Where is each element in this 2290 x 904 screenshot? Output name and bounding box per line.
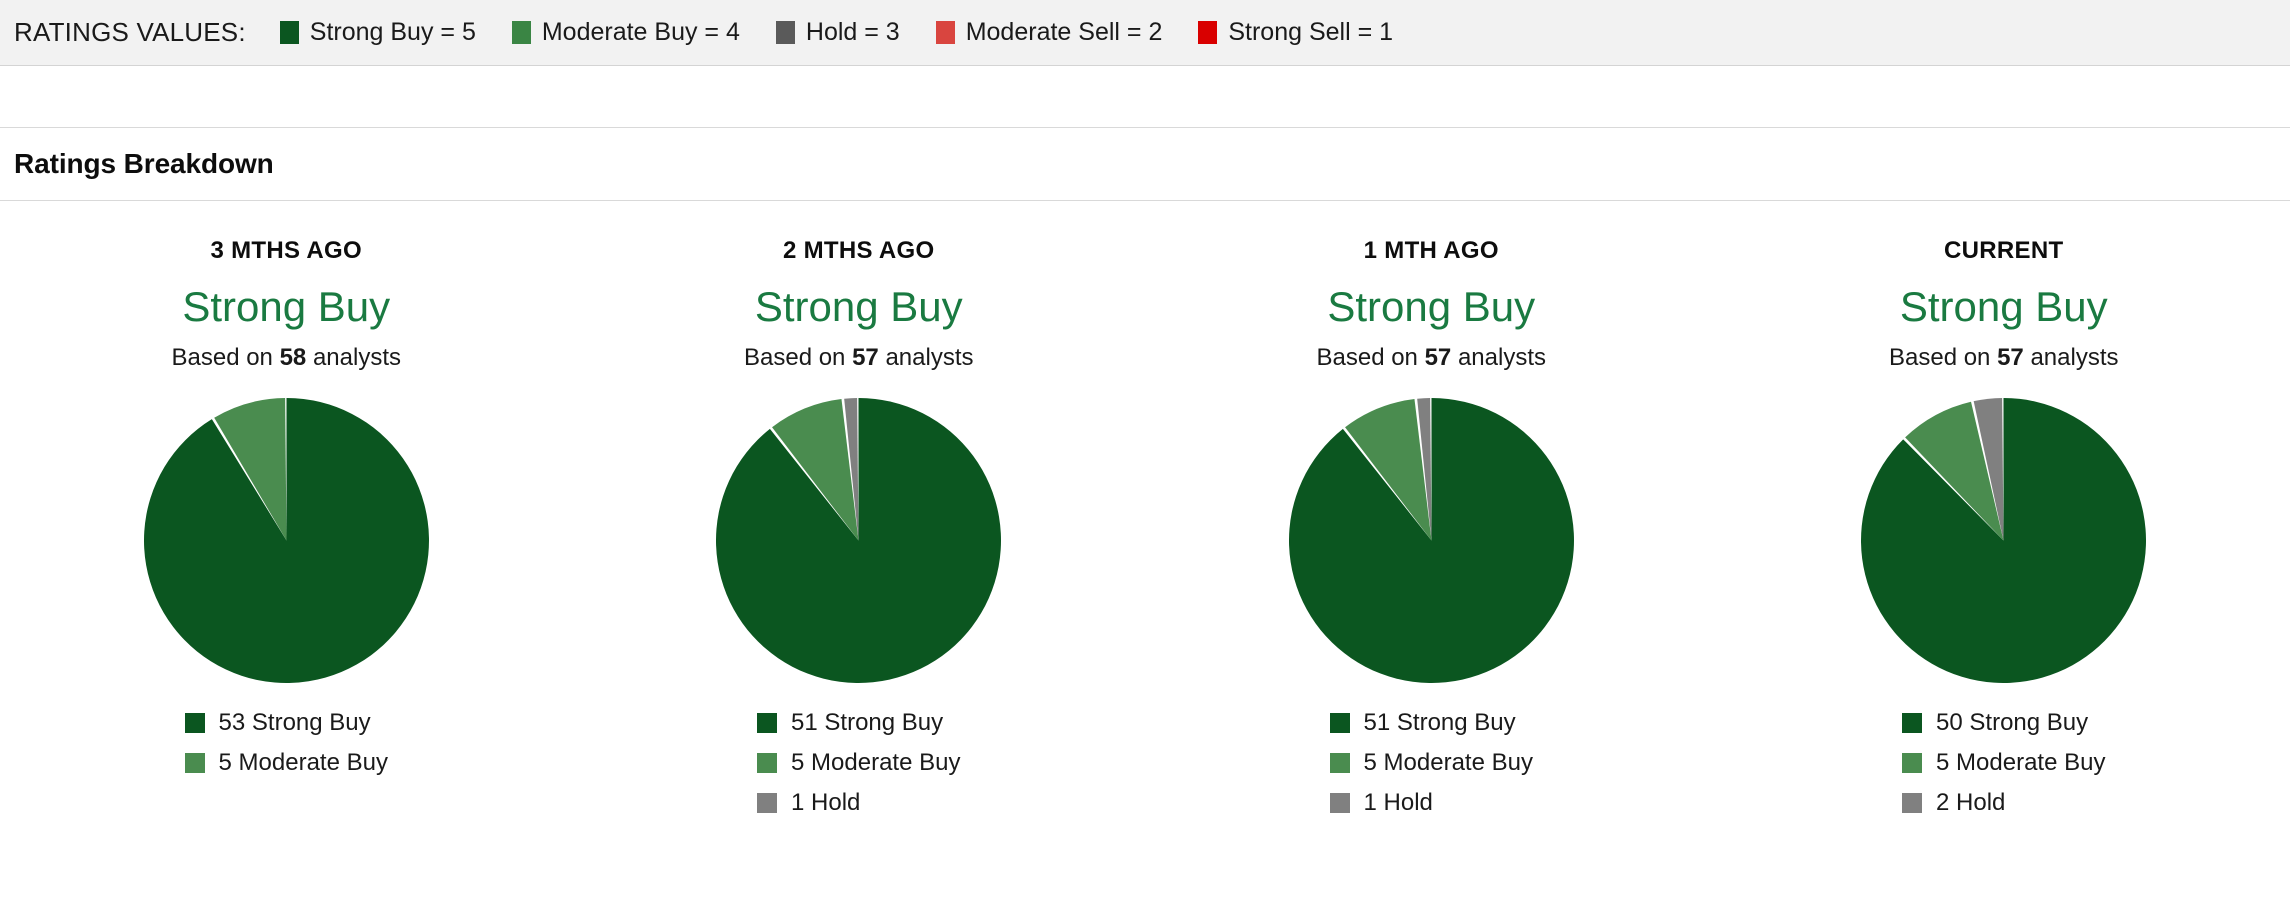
- analyst-count-text: Based on 57 analysts: [1889, 344, 2119, 372]
- column-period-label: 1 MTH AGO: [1364, 237, 1499, 265]
- pie-slice: [716, 398, 1001, 683]
- pie-legend-label: 2 Hold: [1936, 789, 2005, 817]
- analyst-count-prefix: Based on: [171, 344, 279, 371]
- pie-legend-label: 1 Hold: [791, 789, 860, 817]
- pie-legend-swatch-icon: [757, 793, 777, 813]
- analyst-count-text: Based on 57 analysts: [744, 344, 974, 372]
- pie-legend-swatch-icon: [1330, 713, 1350, 733]
- pie-chart: [1861, 398, 2146, 683]
- ratings-values-legend: Strong Buy = 5Moderate Buy = 4Hold = 3Mo…: [280, 18, 1429, 47]
- ratings-value-label: Moderate Buy = 4: [542, 18, 740, 47]
- pie-legend-label: 5 Moderate Buy: [1936, 749, 2105, 777]
- ratings-column: 3 MTHS AGOStrong BuyBased on 58 analysts…: [0, 211, 573, 829]
- pie-legend-item: 5 Moderate Buy: [1330, 749, 1533, 777]
- pie-slice: [1289, 398, 1574, 683]
- pie-legend-label: 5 Moderate Buy: [791, 749, 960, 777]
- ratings-value-label: Moderate Sell = 2: [966, 18, 1163, 47]
- page-title: Ratings Breakdown: [14, 148, 274, 180]
- spacer-band: [0, 66, 2290, 128]
- pie-legend-swatch-icon: [185, 713, 205, 733]
- ratings-value-item: Moderate Sell = 2: [936, 18, 1163, 47]
- pie-chart-container: [716, 398, 1001, 683]
- ratings-column: CURRENTStrong BuyBased on 57 analysts50 …: [1718, 211, 2290, 829]
- ratings-value-swatch-icon: [1198, 21, 1217, 44]
- pie-slice: [144, 398, 429, 683]
- pie-legend-swatch-icon: [1330, 793, 1350, 813]
- ratings-value-item: Strong Buy = 5: [280, 18, 476, 47]
- pie-legend: 51 Strong Buy5 Moderate Buy1 Hold: [1330, 709, 1533, 829]
- column-period-label: 2 MTHS AGO: [783, 237, 934, 265]
- ratings-value-label: Strong Buy = 5: [310, 18, 476, 47]
- column-period-label: CURRENT: [1944, 237, 2063, 265]
- ratings-value-label: Strong Sell = 1: [1228, 18, 1393, 47]
- pie-chart: [144, 398, 429, 683]
- ratings-value-swatch-icon: [512, 21, 531, 44]
- pie-legend-item: 5 Moderate Buy: [185, 749, 388, 777]
- ratings-value-swatch-icon: [280, 21, 299, 44]
- analyst-count-value: 57: [1425, 344, 1452, 371]
- pie-legend-item: 2 Hold: [1902, 789, 2005, 817]
- pie-legend-swatch-icon: [757, 713, 777, 733]
- pie-legend-label: 53 Strong Buy: [219, 709, 371, 737]
- ratings-value-item: Hold = 3: [776, 18, 900, 47]
- pie-slice: [1861, 398, 2146, 683]
- analyst-count-prefix: Based on: [744, 344, 852, 371]
- pie-chart-container: [1289, 398, 1574, 683]
- analyst-count-suffix: analysts: [879, 344, 974, 371]
- ratings-value-item: Moderate Buy = 4: [512, 18, 740, 47]
- pie-chart-container: [1861, 398, 2146, 683]
- consensus-rating-label: Strong Buy: [755, 285, 963, 329]
- pie-chart: [716, 398, 1001, 683]
- pie-legend-label: 51 Strong Buy: [791, 709, 943, 737]
- ratings-column: 2 MTHS AGOStrong BuyBased on 57 analysts…: [573, 211, 1146, 829]
- pie-legend: 51 Strong Buy5 Moderate Buy1 Hold: [757, 709, 960, 829]
- analyst-count-suffix: analysts: [1451, 344, 1546, 371]
- column-period-label: 3 MTHS AGO: [211, 237, 362, 265]
- analyst-count-value: 57: [852, 344, 879, 371]
- pie-legend-item: 53 Strong Buy: [185, 709, 371, 737]
- pie-legend-swatch-icon: [185, 753, 205, 773]
- analyst-count-prefix: Based on: [1889, 344, 1997, 371]
- pie-legend: 50 Strong Buy5 Moderate Buy2 Hold: [1902, 709, 2105, 829]
- pie-legend-item: 51 Strong Buy: [1330, 709, 1516, 737]
- pie-legend-swatch-icon: [1330, 753, 1350, 773]
- pie-legend-item: 1 Hold: [1330, 789, 1433, 817]
- pie-legend-swatch-icon: [1902, 753, 1922, 773]
- analyst-count-prefix: Based on: [1316, 344, 1424, 371]
- ratings-values-bar: RATINGS VALUES: Strong Buy = 5Moderate B…: [0, 0, 2290, 66]
- consensus-rating-label: Strong Buy: [182, 285, 390, 329]
- pie-legend-swatch-icon: [1902, 793, 1922, 813]
- pie-legend-swatch-icon: [757, 753, 777, 773]
- analyst-count-value: 57: [1997, 344, 2024, 371]
- analyst-count-text: Based on 57 analysts: [1316, 344, 1546, 372]
- pie-legend-label: 51 Strong Buy: [1364, 709, 1516, 737]
- consensus-rating-label: Strong Buy: [1327, 285, 1535, 329]
- pie-legend-label: 50 Strong Buy: [1936, 709, 2088, 737]
- pie-legend-item: 5 Moderate Buy: [757, 749, 960, 777]
- ratings-columns: 3 MTHS AGOStrong BuyBased on 58 analysts…: [0, 201, 2290, 829]
- pie-legend-item: 1 Hold: [757, 789, 860, 817]
- analyst-count-suffix: analysts: [306, 344, 401, 371]
- pie-legend-item: 51 Strong Buy: [757, 709, 943, 737]
- section-header: Ratings Breakdown: [0, 128, 2290, 201]
- ratings-value-label: Hold = 3: [806, 18, 900, 47]
- analyst-count-text: Based on 58 analysts: [171, 344, 401, 372]
- consensus-rating-label: Strong Buy: [1900, 285, 2108, 329]
- ratings-value-item: Strong Sell = 1: [1198, 18, 1393, 47]
- pie-legend-label: 1 Hold: [1364, 789, 1433, 817]
- ratings-values-title: RATINGS VALUES:: [14, 17, 246, 48]
- pie-chart: [1289, 398, 1574, 683]
- ratings-column: 1 MTH AGOStrong BuyBased on 57 analysts5…: [1145, 211, 1718, 829]
- analyst-count-suffix: analysts: [2024, 344, 2119, 371]
- ratings-value-swatch-icon: [936, 21, 955, 44]
- pie-legend-label: 5 Moderate Buy: [1364, 749, 1533, 777]
- pie-legend-item: 5 Moderate Buy: [1902, 749, 2105, 777]
- ratings-value-swatch-icon: [776, 21, 795, 44]
- analyst-count-value: 58: [280, 344, 307, 371]
- pie-legend-swatch-icon: [1902, 713, 1922, 733]
- pie-legend: 53 Strong Buy5 Moderate Buy: [185, 709, 388, 789]
- ratings-breakdown-page: RATINGS VALUES: Strong Buy = 5Moderate B…: [0, 0, 2290, 904]
- pie-legend-label: 5 Moderate Buy: [219, 749, 388, 777]
- pie-legend-item: 50 Strong Buy: [1902, 709, 2088, 737]
- pie-chart-container: [144, 398, 429, 683]
